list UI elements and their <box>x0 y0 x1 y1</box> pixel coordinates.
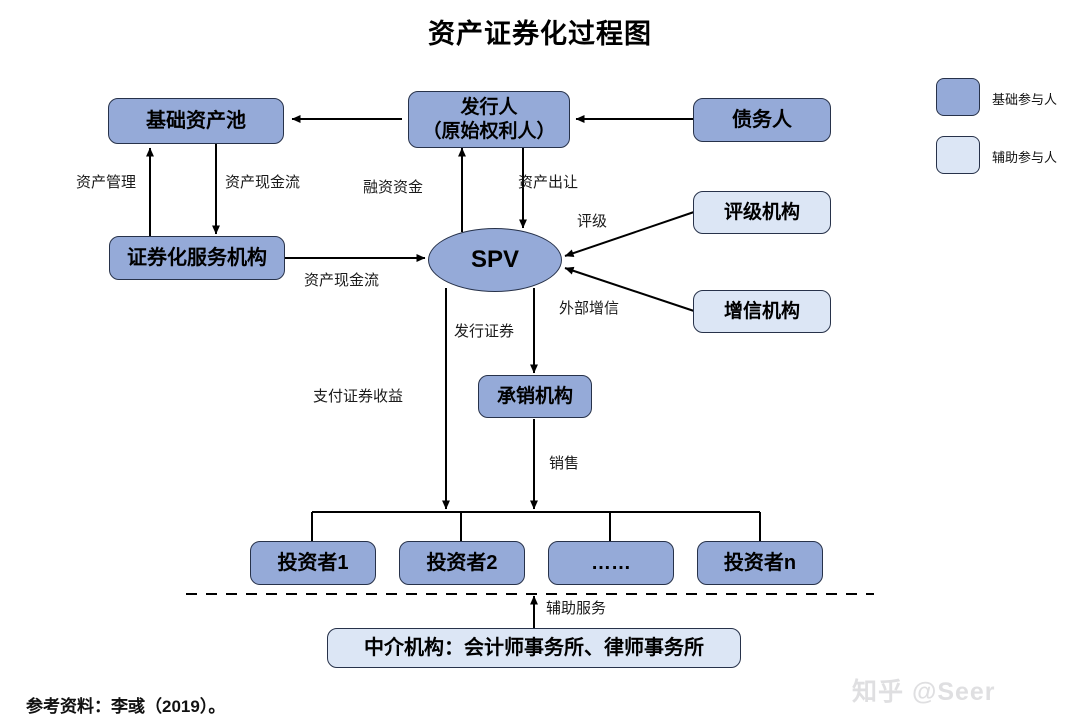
edge-label-issue-securities: 发行证券 <box>454 320 514 341</box>
edge-label-auxiliary-service: 辅助服务 <box>546 597 606 618</box>
legend-label-primary: 基础参与人 <box>992 89 1057 108</box>
node-asset-pool-label: 基础资产池 <box>146 109 246 133</box>
node-investor-n[interactable]: 投资者n <box>697 541 823 585</box>
node-credit-enhancer-label: 增信机构 <box>724 300 800 323</box>
node-servicer-label: 证券化服务机构 <box>127 246 267 270</box>
node-credit-enhancer[interactable]: 增信机构 <box>693 290 831 333</box>
node-issuer-label-line1: 发行人 <box>460 96 517 119</box>
node-spv-label: SPV <box>471 245 519 274</box>
edge-label-rating: 评级 <box>577 210 607 231</box>
edge-label-sales: 销售 <box>549 452 579 473</box>
edge-label-financing-funds: 融资资金 <box>363 176 423 197</box>
diagram-canvas: 资产证券化过程图 <box>0 0 1080 725</box>
footnote: 参考资料：李彧（2019）。 <box>26 692 225 717</box>
node-rating-agency-label: 评级机构 <box>724 201 800 224</box>
edge-label-pay-security-income: 支付证券收益 <box>313 385 403 406</box>
legend-label-aux: 辅助参与人 <box>992 147 1057 166</box>
node-investor-ellipsis[interactable]: …… <box>548 541 674 585</box>
node-rating-agency[interactable]: 评级机构 <box>693 191 831 234</box>
edge-label-asset-cashflow-mid: 资产现金流 <box>304 269 379 290</box>
node-underwriter-label: 承销机构 <box>497 385 573 408</box>
edge-label-asset-management: 资产管理 <box>76 171 136 192</box>
node-intermediary-label: 中介机构：会计师事务所、律师事务所 <box>364 636 704 660</box>
node-underwriter[interactable]: 承销机构 <box>478 375 592 418</box>
node-intermediary[interactable]: 中介机构：会计师事务所、律师事务所 <box>327 628 741 668</box>
legend-swatch-aux <box>936 136 980 174</box>
node-asset-pool[interactable]: 基础资产池 <box>108 98 284 144</box>
node-investor-n-label: 投资者n <box>724 551 796 575</box>
legend-swatch-primary <box>936 78 980 116</box>
watermark: 知乎 @Seer <box>852 672 996 708</box>
edge-label-external-credit: 外部增信 <box>559 297 619 318</box>
node-investor-1-label: 投资者1 <box>277 551 348 575</box>
node-debtor-label: 债务人 <box>732 108 792 132</box>
node-investor-2[interactable]: 投资者2 <box>399 541 525 585</box>
edge-label-asset-transfer: 资产出让 <box>518 171 578 192</box>
node-debtor[interactable]: 债务人 <box>693 98 831 142</box>
node-investor-1[interactable]: 投资者1 <box>250 541 376 585</box>
node-spv[interactable]: SPV <box>428 228 562 292</box>
node-issuer[interactable]: 发行人 （原始权利人） <box>408 91 570 148</box>
node-investor-ellipsis-label: …… <box>591 551 631 575</box>
edge-label-asset-cashflow-top: 资产现金流 <box>225 171 300 192</box>
node-servicer[interactable]: 证券化服务机构 <box>109 236 285 280</box>
node-issuer-label-line2: （原始权利人） <box>422 120 555 143</box>
node-investor-2-label: 投资者2 <box>426 551 497 575</box>
